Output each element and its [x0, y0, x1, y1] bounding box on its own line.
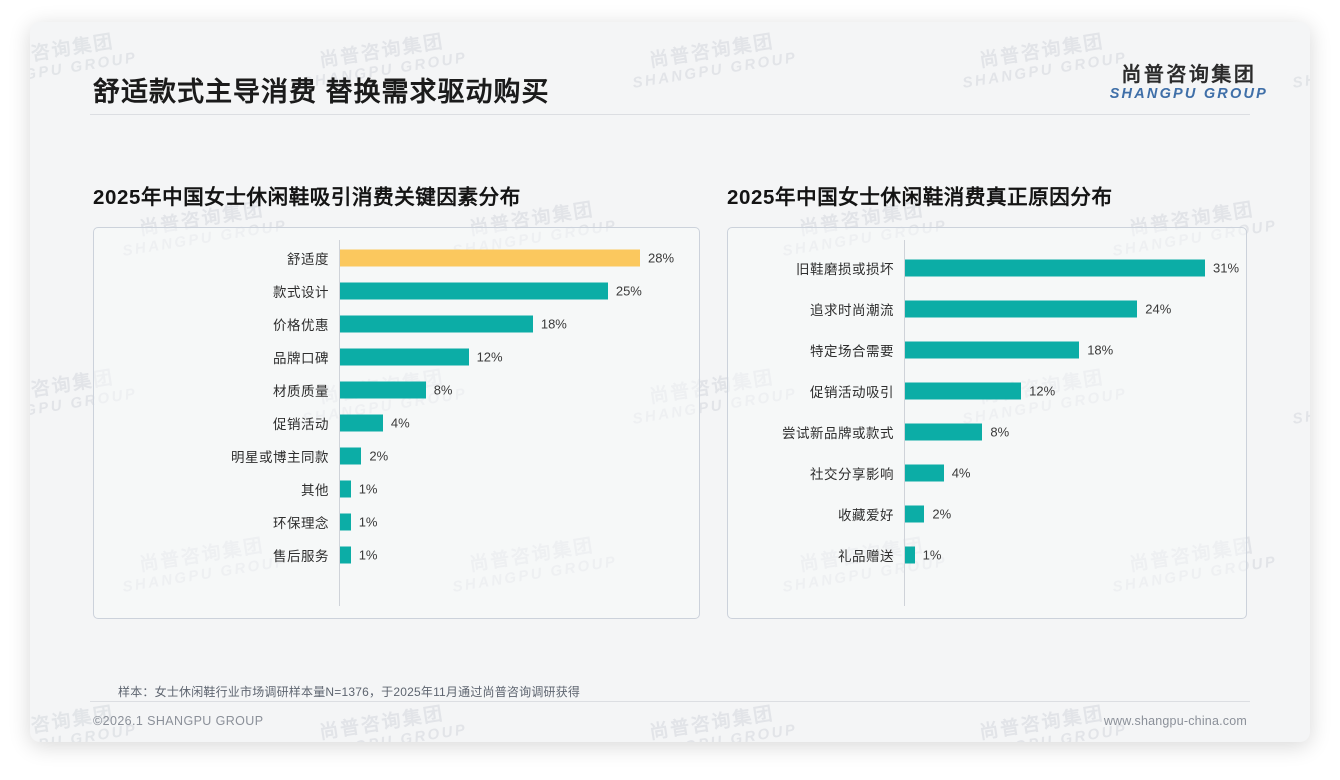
bar-category-label: 材质质量 [94, 380, 329, 400]
bar [905, 301, 1137, 318]
bar-value-label: 12% [1029, 384, 1055, 399]
bar [340, 349, 469, 366]
bar [340, 283, 608, 300]
bar-value-label: 1% [359, 482, 378, 497]
bar [905, 465, 944, 482]
charts-container: 2025年中国女士休闲鞋吸引消费关键因素分布 舒适度28%款式设计25%价格优惠… [30, 22, 1310, 742]
chart-card-right: 旧鞋磨损或损坏31%追求时尚潮流24%特定场合需要18%促销活动吸引12%尝试新… [727, 227, 1247, 619]
bar-value-label: 31% [1213, 261, 1239, 276]
bar-value-label: 4% [952, 466, 971, 481]
bar-category-label: 环保理念 [94, 512, 329, 532]
bar [905, 342, 1079, 359]
website-link[interactable]: www.shangpu-china.com [1104, 714, 1247, 728]
slide-canvas: 尚普咨询集团SHANGPU GROUP尚普咨询集团SHANGPU GROUP尚普… [30, 22, 1310, 742]
chart-title-left: 2025年中国女士休闲鞋吸引消费关键因素分布 [93, 180, 700, 210]
bar-category-label: 礼品赠送 [728, 545, 894, 565]
bar-category-label: 品牌口碑 [94, 347, 329, 367]
bar [905, 547, 915, 564]
bar-value-label: 25% [616, 284, 642, 299]
chart-title-right: 2025年中国女士休闲鞋消费真正原因分布 [727, 180, 1247, 210]
bar-category-label: 其他 [94, 479, 329, 499]
bar-value-label: 28% [648, 251, 674, 266]
bar-value-label: 8% [990, 425, 1009, 440]
chart-card-left: 舒适度28%款式设计25%价格优惠18%品牌口碑12%材质质量8%促销活动4%明… [93, 227, 700, 619]
bar-category-label: 促销活动 [94, 413, 329, 433]
bar-value-label: 12% [477, 350, 503, 365]
brand-name-cn: 尚普咨询集团 [1110, 64, 1268, 86]
bar-value-label: 2% [932, 507, 951, 522]
bar [905, 424, 982, 441]
chart-panel-left: 2025年中国女士休闲鞋吸引消费关键因素分布 舒适度28%款式设计25%价格优惠… [93, 180, 700, 619]
bar-category-label: 特定场合需要 [728, 340, 894, 360]
bar-value-label: 24% [1145, 302, 1171, 317]
bar-category-label: 售后服务 [94, 545, 329, 565]
bar-value-label: 18% [1087, 343, 1113, 358]
bar-value-label: 2% [369, 449, 388, 464]
bar [340, 382, 426, 399]
bar-plot-right: 旧鞋磨损或损坏31%追求时尚潮流24%特定场合需要18%促销活动吸引12%尝试新… [728, 228, 1246, 618]
chart-panel-right: 2025年中国女士休闲鞋消费真正原因分布 旧鞋磨损或损坏31%追求时尚潮流24%… [727, 180, 1247, 619]
bar-category-label: 追求时尚潮流 [728, 299, 894, 319]
bar-category-label: 价格优惠 [94, 314, 329, 334]
bar-value-label: 8% [434, 383, 453, 398]
bar-category-label: 明星或博主同款 [94, 446, 329, 466]
bar-category-label: 收藏爱好 [728, 504, 894, 524]
bar-value-label: 4% [391, 416, 410, 431]
bar-category-label: 社交分享影响 [728, 463, 894, 483]
source-note: 样本：女士休闲鞋行业市场调研样本量N=1376，于2025年11月通过尚普咨询调… [118, 683, 580, 700]
brand-name-en: SHANGPU GROUP [1110, 87, 1268, 103]
bar [340, 514, 351, 531]
bar-category-label: 旧鞋磨损或损坏 [728, 258, 894, 278]
footer-divider [90, 701, 1250, 702]
bar [905, 260, 1205, 277]
bar-category-label: 款式设计 [94, 281, 329, 301]
bar [340, 448, 361, 465]
bar-category-label: 舒适度 [94, 248, 329, 268]
bar-plot-left: 舒适度28%款式设计25%价格优惠18%品牌口碑12%材质质量8%促销活动4%明… [94, 228, 699, 618]
header-divider [90, 114, 1250, 115]
bar [905, 506, 924, 523]
bar [340, 547, 351, 564]
copyright-text: ©2026.1 SHANGPU GROUP [93, 714, 263, 728]
slide-header: 舒适款式主导消费 替换需求驱动购买 尚普咨询集团 SHANGPU GROUP [30, 22, 1310, 107]
bar-value-label: 18% [541, 317, 567, 332]
bar-value-label: 1% [923, 548, 942, 563]
bar-value-label: 1% [359, 515, 378, 530]
bar-category-label: 尝试新品牌或款式 [728, 422, 894, 442]
bar-value-label: 1% [359, 548, 378, 563]
brand-logo: 尚普咨询集团 SHANGPU GROUP [1110, 64, 1268, 103]
bar [905, 383, 1021, 400]
bar [340, 481, 351, 498]
bar-category-label: 促销活动吸引 [728, 381, 894, 401]
page-title: 舒适款式主导消费 替换需求驱动购买 [93, 70, 550, 109]
bar [340, 316, 533, 333]
bar [340, 250, 640, 267]
bar [340, 415, 383, 432]
